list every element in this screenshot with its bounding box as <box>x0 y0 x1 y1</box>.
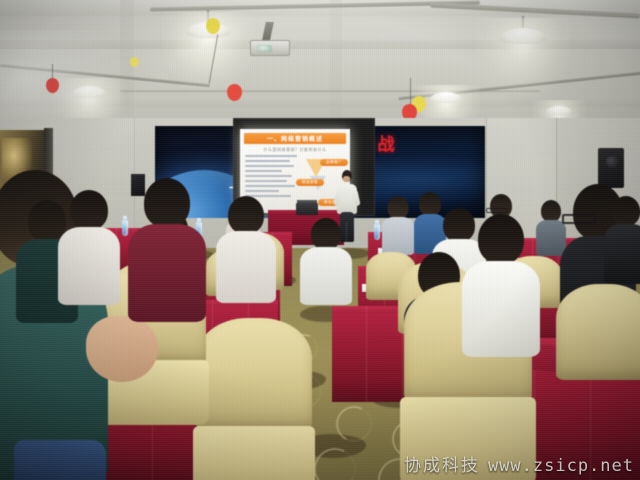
head <box>70 190 108 230</box>
head <box>478 214 524 264</box>
balloon <box>206 18 220 34</box>
laptop <box>296 203 318 215</box>
conference-room-photo: 协成科技 与实战 协 成 科 技 股 份 有 限 公 司 下首创发布会 IT I… <box>0 0 640 480</box>
chair-foreground <box>556 284 640 380</box>
audience-member <box>216 196 276 300</box>
torso <box>462 261 540 357</box>
watermark-brand: 协成科技 <box>404 451 480 476</box>
torso <box>382 217 414 255</box>
audience-member <box>300 218 352 304</box>
ceiling-lamp <box>500 28 546 54</box>
projector-lens <box>257 45 272 52</box>
torso <box>216 231 276 303</box>
water-bottle <box>374 224 380 240</box>
ceiling-rib-2 <box>330 0 342 122</box>
balloon-string <box>410 78 411 104</box>
ceiling-lamp <box>430 92 462 110</box>
lamp-shade <box>546 106 572 115</box>
balloon <box>227 84 242 101</box>
audience-member <box>382 196 414 254</box>
slide-body-text <box>245 155 297 200</box>
audience-member <box>462 214 540 354</box>
balloon <box>130 57 139 67</box>
projector-mount <box>263 22 275 40</box>
head <box>612 196 640 226</box>
slide-pill-label: 品牌推广 <box>320 159 348 166</box>
slide-pill-label: 精准获客 <box>296 179 324 186</box>
lamp-shade <box>500 28 546 44</box>
balloon <box>46 78 59 93</box>
light-track-left <box>0 64 209 87</box>
audience-member <box>128 178 206 320</box>
audience-member <box>604 196 640 282</box>
presenter-face <box>343 176 350 182</box>
slide-pill: 品牌推广 <box>320 159 348 166</box>
head <box>541 200 561 222</box>
head <box>388 196 409 219</box>
torso <box>128 224 206 322</box>
chair-skirt <box>193 426 316 480</box>
speaker-cone-icon <box>606 156 618 168</box>
eyeglasses-icon <box>562 214 596 224</box>
slide-header-label: 一、网络营销概述 <box>244 134 346 143</box>
chair-back <box>556 284 640 380</box>
ceiling-lamp <box>72 86 106 106</box>
chair-back <box>196 318 312 430</box>
head <box>311 218 341 250</box>
torso <box>300 247 352 305</box>
forearm <box>86 316 158 382</box>
torso <box>604 224 640 284</box>
head <box>228 196 264 234</box>
head <box>144 178 190 228</box>
ceiling-projector <box>250 30 288 56</box>
lamp-shade <box>72 86 106 98</box>
watermark: 协成科技 www.zsicp.net <box>404 451 634 476</box>
eyeglasses-icon <box>486 208 508 213</box>
torso <box>58 227 120 305</box>
slide-header-bar: 一、网络营销概述 <box>244 133 346 144</box>
light-track-center <box>120 90 540 92</box>
wall-speaker <box>598 148 624 188</box>
audience-member <box>58 190 120 302</box>
slide-pill: 精准获客 <box>296 179 324 186</box>
jeans <box>14 440 106 480</box>
lamp-shade <box>430 92 462 103</box>
slide-subheader: 什么是网络营销？它能带来什么 <box>240 147 350 153</box>
chair-foreground <box>196 318 312 430</box>
watermark-url: www.zsicp.net <box>488 456 634 476</box>
